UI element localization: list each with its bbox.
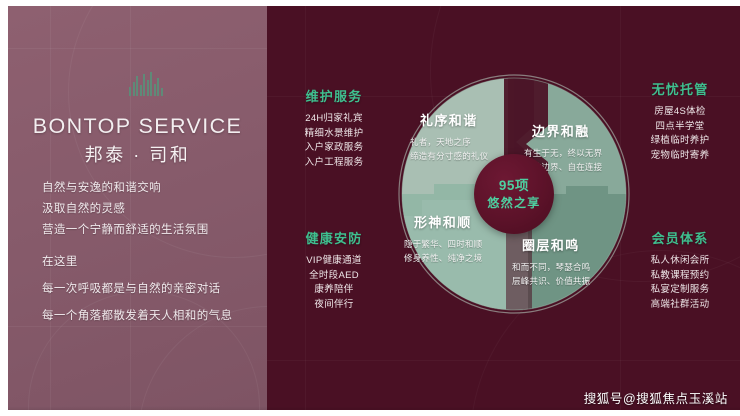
service-item: 四点半学堂 bbox=[628, 120, 732, 135]
service-item: 夜间伴行 bbox=[288, 298, 380, 313]
service-group-membership: 会员体系 私人休闲会所 私教课程预约 私宴定制服务 高端社群活动 bbox=[628, 228, 732, 312]
brand-title-cn: 邦泰 · 司和 bbox=[8, 141, 267, 167]
brand-title-en: BONTOP SERVICE bbox=[8, 114, 267, 139]
brand-line: 营造一个宁静而舒适的生活氛围 bbox=[42, 220, 267, 241]
service-item: 全时段AED bbox=[288, 269, 380, 284]
service-group-title: 维护服务 bbox=[288, 86, 380, 105]
service-item: 入户工程服务 bbox=[288, 156, 380, 171]
service-item: 宠物临时寄养 bbox=[628, 149, 732, 164]
service-item: 私人休闲会所 bbox=[628, 254, 732, 269]
service-group-health: 健康安防 VIP健康通道 全时段AED 康养陪伴 夜间伴行 bbox=[288, 228, 380, 312]
slide-canvas: BONTOP SERVICE 邦泰 · 司和 自然与安逸的和谐交响 汲取自然的灵… bbox=[0, 0, 740, 416]
service-group-maintenance: 维护服务 24H归家礼宾 精细水景维护 入户家政服务 入户工程服务 bbox=[288, 86, 380, 170]
frame-edge-bottom bbox=[0, 410, 740, 416]
watermark-label: 搜狐号@搜狐焦点玉溪站 bbox=[584, 388, 728, 407]
service-item: 入户家政服务 bbox=[288, 141, 380, 156]
brand-description: 自然与安逸的和谐交响 汲取自然的灵感 营造一个宁静而舒适的生活氛围 在这里 每一… bbox=[42, 178, 267, 327]
frame-edge-top bbox=[0, 0, 740, 6]
diagram-center-hub: 95项 悠然之享 bbox=[474, 154, 554, 234]
service-item: 私宴定制服务 bbox=[628, 283, 732, 298]
service-group-title: 会员体系 bbox=[628, 228, 732, 247]
brand-line: 汲取自然的灵感 bbox=[42, 199, 267, 220]
service-item: 私教课程预约 bbox=[628, 269, 732, 284]
service-group-trusteeship: 无忧托管 房屋4S体检 四点半学堂 绿植临时养护 宠物临时寄养 bbox=[628, 79, 732, 163]
brand-line: 自然与安逸的和谐交响 bbox=[42, 178, 267, 199]
center-hub-text: 悠然之享 bbox=[487, 195, 540, 212]
brand-line: 在这里 bbox=[42, 252, 267, 273]
brand-line: 每一次呼吸都是与自然的亲密对话 bbox=[42, 279, 267, 300]
brand-panel: BONTOP SERVICE 邦泰 · 司和 自然与安逸的和谐交响 汲取自然的灵… bbox=[8, 6, 267, 410]
service-item: 康养陪伴 bbox=[288, 283, 380, 298]
service-item: 高端社群活动 bbox=[628, 298, 732, 313]
service-group-title: 无忧托管 bbox=[628, 79, 732, 98]
barcode-decoration-icon bbox=[129, 72, 163, 96]
service-item: VIP健康通道 bbox=[288, 254, 380, 269]
pinwheel-diagram: 礼序和谐 礼者，天地之序 缔造有分寸感的礼仪 边界和融 有生于无，终以无界 打破… bbox=[398, 74, 642, 326]
center-hub-number: 95项 bbox=[499, 177, 529, 195]
service-item: 24H归家礼宾 bbox=[288, 112, 380, 127]
brand-line: 每一个角落都散发着天人相和的气息 bbox=[42, 306, 267, 327]
service-item: 绿植临时养护 bbox=[628, 134, 732, 149]
service-group-title: 健康安防 bbox=[288, 228, 380, 247]
service-item: 精细水景维护 bbox=[288, 127, 380, 142]
service-item: 房屋4S体检 bbox=[628, 105, 732, 120]
frame-edge-left bbox=[0, 0, 8, 416]
